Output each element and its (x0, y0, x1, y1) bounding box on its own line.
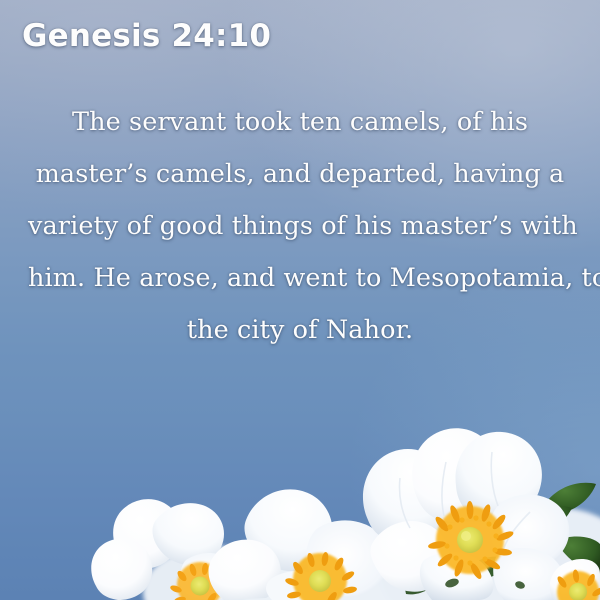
flower-center-left (209, 489, 390, 600)
verse-line: the city of Nahor. (28, 304, 572, 356)
flower-main (363, 428, 569, 600)
verse-line: The servant took ten camels, of his (28, 96, 572, 148)
verse-reference-title: Genesis 24:10 (22, 18, 271, 54)
verse-line: him. He arose, and went to Mesopotamia, … (28, 252, 572, 304)
verse-text: The servant took ten camels, of his mast… (28, 96, 572, 356)
verse-image-card: Genesis 24:10 The servant took ten camel… (0, 0, 600, 600)
verse-line: master’s camels, and departed, having a (28, 148, 572, 200)
verse-line: variety of good things of his master’s w… (28, 200, 572, 252)
